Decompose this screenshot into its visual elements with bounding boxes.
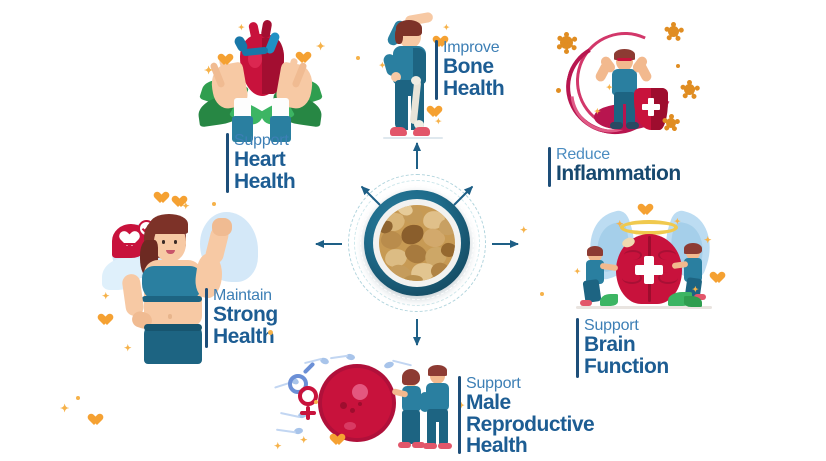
shoe — [438, 443, 452, 449]
dot-decoration — [314, 400, 318, 404]
label-accent-bar — [458, 376, 461, 454]
label-main-line2: Health — [443, 78, 504, 99]
sparkle-icon: ✦ — [692, 286, 699, 294]
eye — [174, 240, 177, 244]
arrow-up — [416, 143, 418, 169]
sparkle-icon: ✦ — [316, 42, 325, 53]
dot-decoration — [356, 56, 360, 60]
label-lead: Reduce — [556, 147, 681, 163]
sperm-tail — [280, 412, 300, 418]
heart-decoration-icon — [298, 52, 312, 65]
egg-dot — [350, 408, 355, 413]
arrow-right — [492, 243, 518, 245]
brain-fold — [624, 250, 642, 260]
hair — [395, 28, 403, 44]
sperm-tail — [392, 360, 412, 367]
leg-gap — [436, 422, 439, 445]
eye — [162, 240, 165, 244]
dot-decoration — [212, 202, 216, 206]
label-accent-bar — [576, 318, 579, 378]
hair — [684, 243, 702, 254]
label-reproductive: Support Male Reproductive Health — [458, 376, 594, 456]
dot-decoration — [268, 330, 273, 335]
heart-decoration-icon — [90, 414, 104, 427]
virus-icon — [560, 36, 573, 49]
center-bowl-group — [364, 190, 470, 296]
label-brain: Support Brain Function — [576, 318, 669, 380]
heart-decoration-icon — [332, 434, 346, 447]
virus-dot-icon — [556, 88, 561, 93]
label-heart: Support Heart Health — [226, 133, 295, 195]
bra-band — [142, 296, 202, 302]
pulse-line — [118, 243, 144, 245]
cross-icon — [642, 104, 660, 110]
legs — [402, 410, 420, 444]
label-lead: Support — [584, 318, 669, 334]
virus-icon — [668, 26, 679, 37]
cross-icon — [635, 265, 663, 275]
label-main-line1: Strong — [213, 304, 278, 325]
label-bone: Improve Bone Health — [435, 40, 504, 102]
arrow-down — [416, 319, 418, 345]
heart-decoration-icon — [100, 314, 114, 327]
egg-nucleus — [352, 384, 368, 400]
illustration-inflammation: ✦ ✦ — [548, 26, 698, 148]
heart-decoration-icon — [156, 192, 170, 205]
shoe — [423, 443, 437, 449]
egg-dot — [358, 402, 362, 406]
halo-icon — [620, 220, 678, 235]
heart-bubble-inner — [122, 232, 140, 248]
sparkle-icon: ✦ — [102, 292, 110, 301]
label-main-line2: Reproductive — [466, 414, 594, 435]
label-lead: Improve — [443, 40, 504, 56]
egg-cell-icon — [322, 368, 392, 438]
fist-icon — [212, 218, 232, 236]
shoe — [390, 127, 407, 136]
navel — [168, 314, 172, 319]
sparkle-icon: ✦ — [443, 24, 450, 32]
label-inflammation: Reduce Inflammation — [548, 147, 681, 189]
illustration-heart: ✦ ✦ ✦ — [196, 18, 326, 143]
sparkle-icon: ✦ — [238, 24, 245, 32]
dot-decoration — [76, 396, 80, 400]
infographic-canvas: ✦ ✦ ✦ Support Heart Health — [0, 0, 826, 461]
virus-icon — [684, 84, 695, 95]
sparkle-icon: ✦ — [435, 118, 442, 126]
sperm-tail — [276, 429, 296, 434]
hair-front — [150, 214, 188, 234]
hair — [587, 246, 603, 256]
label-accent-bar — [226, 133, 229, 193]
sparkle-icon: ✦ — [204, 66, 213, 77]
walnut-kernels — [379, 205, 455, 281]
female-cross — [300, 411, 316, 415]
label-lead: Maintain — [213, 288, 278, 304]
grass-icon — [684, 296, 702, 307]
label-main-line3: Health — [466, 435, 594, 456]
label-strong: Maintain Strong Health — [205, 288, 278, 350]
sparkle-icon: ✦ — [574, 268, 581, 276]
grass-icon — [600, 294, 618, 306]
sparkle-icon: ✦ — [379, 62, 386, 70]
dot-decoration — [540, 292, 544, 296]
label-accent-bar — [435, 40, 438, 100]
brain-fold — [658, 250, 676, 260]
illustration-brain: ✦ ✦ ✦ ✦ ✦ — [572, 206, 728, 318]
waistband — [144, 324, 202, 331]
shoe — [610, 122, 623, 129]
label-main-line1: Male — [466, 392, 594, 413]
sparkle-icon: ✦ — [674, 218, 681, 226]
sparkle-icon: ✦ — [606, 84, 613, 92]
shoe — [413, 127, 430, 136]
sparkle-icon: ✦ — [274, 442, 282, 451]
sparkle-icon: ✦ — [704, 236, 712, 245]
sparkle-icon: ✦ — [594, 108, 601, 116]
ground-line — [383, 137, 443, 139]
label-accent-bar — [205, 288, 208, 348]
heart-decoration-icon — [429, 106, 440, 116]
hair — [402, 369, 420, 385]
virus-icon — [666, 118, 676, 128]
label-main-line1: Heart — [234, 149, 295, 170]
sparkle-icon: ✦ — [60, 404, 69, 415]
shoe — [398, 442, 411, 448]
illustration-reproductive: ✦ ✦ — [268, 356, 468, 458]
arrow-left — [316, 243, 342, 245]
egg-dot — [344, 422, 356, 430]
egg-dot — [340, 402, 347, 409]
bone-icon — [411, 76, 421, 85]
heart-decoration-icon — [174, 196, 188, 209]
sparkle-icon: ✦ — [300, 436, 308, 445]
sperm-tail — [330, 355, 348, 359]
label-accent-bar — [548, 147, 551, 187]
label-main-line1: Bone — [443, 56, 504, 77]
shoe — [626, 122, 639, 129]
label-lead: Support — [466, 376, 594, 392]
sparkle-icon: ✦ — [616, 220, 624, 229]
label-main-line2: Health — [213, 326, 278, 347]
glasses-icon — [617, 58, 632, 61]
label-main-line2: Function — [584, 356, 669, 377]
label-main-line1: Inflammation — [556, 163, 681, 184]
label-lead: Support — [234, 133, 295, 149]
sparkle-icon: ✦ — [124, 344, 132, 353]
hair — [428, 365, 447, 376]
person-torso — [402, 386, 421, 412]
heart-decoration-icon — [220, 54, 234, 67]
label-main-line1: Brain — [584, 334, 669, 355]
heart-decoration-icon — [712, 272, 726, 285]
sparkle-icon: ✦ — [520, 226, 528, 235]
heart-decoration-icon — [640, 204, 654, 217]
label-main-line2: Health — [234, 171, 295, 192]
virus-dot-icon — [676, 64, 680, 68]
